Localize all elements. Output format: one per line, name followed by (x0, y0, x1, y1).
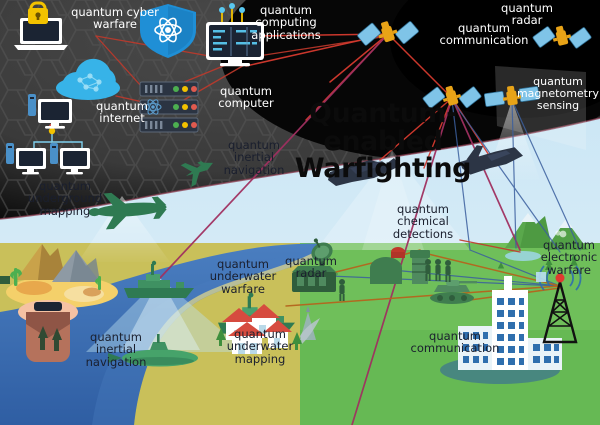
underground-bunker-icon (18, 300, 78, 362)
infographic-canvas: Quantum-enabled Warfighting quantum cybe… (0, 0, 600, 425)
server-rack-icon (140, 82, 198, 132)
fuel-tank-icon (391, 247, 405, 258)
base-building-icon (292, 266, 336, 292)
infographic-scene (0, 0, 600, 425)
page-title-line2: Warfighting (268, 155, 498, 183)
page-title: Quantum-enabled Warfighting (268, 100, 498, 183)
page-title-line1: Quantum-enabled (268, 100, 498, 155)
